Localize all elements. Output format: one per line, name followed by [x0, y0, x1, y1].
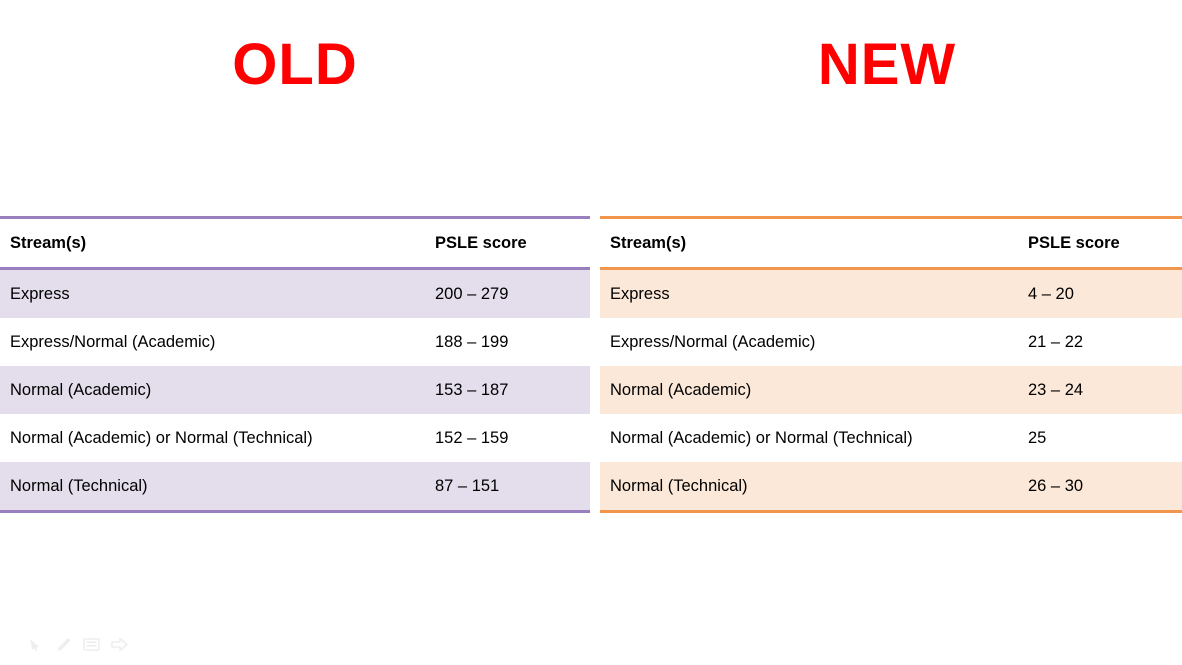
old-cell-score: 152 – 159	[425, 414, 590, 462]
old-cell-score: 87 – 151	[425, 462, 590, 512]
new-table-head: Stream(s) PSLE score	[600, 218, 1182, 269]
table-row: Normal (Academic) 23 – 24	[600, 366, 1182, 414]
slide-icon[interactable]	[82, 636, 101, 653]
table-row: Express/Normal (Academic) 21 – 22	[600, 318, 1182, 366]
table-row: Normal (Technical) 87 – 151	[0, 462, 590, 512]
old-table-header-row: Stream(s) PSLE score	[0, 218, 590, 269]
old-cell-stream: Normal (Academic)	[0, 366, 425, 414]
table-row: Express/Normal (Academic) 188 – 199	[0, 318, 590, 366]
presentation-control-bar[interactable]	[26, 636, 129, 653]
new-cell-stream: Normal (Academic)	[600, 366, 1018, 414]
new-col-header-score: PSLE score	[1018, 218, 1182, 269]
old-psle-table: Stream(s) PSLE score Express 200 – 279 E…	[0, 216, 590, 513]
old-col-header-stream: Stream(s)	[0, 218, 425, 269]
table-row: Normal (Academic) or Normal (Technical) …	[0, 414, 590, 462]
new-cell-score: 4 – 20	[1018, 269, 1182, 319]
table-row: Normal (Academic) 153 – 187	[0, 366, 590, 414]
old-cell-stream: Express	[0, 269, 425, 319]
old-col-header-score: PSLE score	[425, 218, 590, 269]
new-cell-score: 25	[1018, 414, 1182, 462]
table-row: Normal (Technical) 26 – 30	[600, 462, 1182, 512]
pointer-icon[interactable]	[26, 636, 45, 653]
new-psle-table: Stream(s) PSLE score Express 4 – 20 Expr…	[600, 216, 1182, 513]
new-cell-score: 23 – 24	[1018, 366, 1182, 414]
next-slide-icon[interactable]	[110, 636, 129, 653]
old-table-body: Express 200 – 279 Express/Normal (Academ…	[0, 269, 590, 512]
new-cell-score: 21 – 22	[1018, 318, 1182, 366]
old-table-head: Stream(s) PSLE score	[0, 218, 590, 269]
new-cell-stream: Normal (Academic) or Normal (Technical)	[600, 414, 1018, 462]
new-table-body: Express 4 – 20 Express/Normal (Academic)…	[600, 269, 1182, 512]
new-cell-stream: Express	[600, 269, 1018, 319]
table-row: Express 4 – 20	[600, 269, 1182, 319]
old-cell-score: 188 – 199	[425, 318, 590, 366]
table-row: Normal (Academic) or Normal (Technical) …	[600, 414, 1182, 462]
old-cell-stream: Normal (Academic) or Normal (Technical)	[0, 414, 425, 462]
old-cell-stream: Express/Normal (Academic)	[0, 318, 425, 366]
new-cell-stream: Normal (Technical)	[600, 462, 1018, 512]
new-col-header-stream: Stream(s)	[600, 218, 1018, 269]
page-title-new: NEW	[592, 36, 1182, 94]
page-title-old: OLD	[0, 36, 590, 94]
new-table-header-row: Stream(s) PSLE score	[600, 218, 1182, 269]
old-cell-score: 153 – 187	[425, 366, 590, 414]
new-cell-stream: Express/Normal (Academic)	[600, 318, 1018, 366]
pen-icon[interactable]	[54, 636, 73, 653]
new-cell-score: 26 – 30	[1018, 462, 1182, 512]
table-row: Express 200 – 279	[0, 269, 590, 319]
old-cell-stream: Normal (Technical)	[0, 462, 425, 512]
old-cell-score: 200 – 279	[425, 269, 590, 319]
